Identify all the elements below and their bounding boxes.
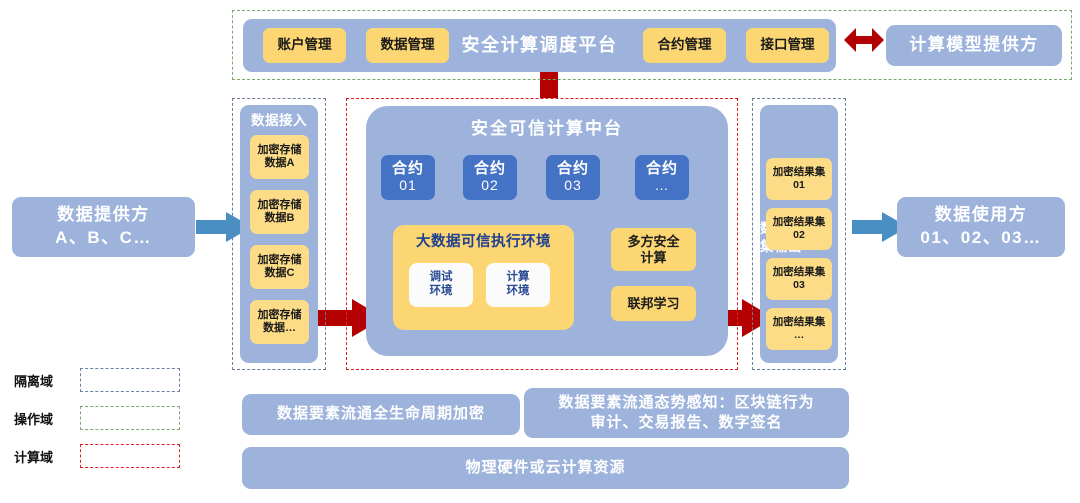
- egress-item-02[interactable]: 加密结果集 02: [766, 208, 832, 250]
- ingress-item-b-line1: 加密存储: [258, 199, 302, 212]
- egress-item-03[interactable]: 加密结果集 03: [766, 258, 832, 300]
- data-provider-box[interactable]: 数据提供方 A、B、C…: [12, 197, 195, 257]
- legend-swatch-compute: [80, 444, 180, 468]
- module-interface-management[interactable]: 接口管理: [746, 28, 829, 63]
- legend-swatch-operation: [80, 406, 180, 430]
- footer-awareness-line2: 审计、交易报告、数字签名: [590, 413, 782, 433]
- ingress-item-a-line1: 加密存储: [258, 144, 302, 157]
- ingress-item-c[interactable]: 加密存储 数据C: [250, 245, 309, 289]
- ingress-item-more-line2: 数据…: [263, 322, 296, 335]
- data-consumer-line2: 01、02、03…: [920, 227, 1041, 250]
- contract-02-number: 02: [481, 178, 499, 194]
- legend-swatch-isolation: [80, 368, 180, 392]
- engine-mpc-line1: 多方安全: [627, 234, 679, 250]
- egress-item-more-line1: 加密结果集: [773, 316, 826, 329]
- egress-item-01-line1: 加密结果集: [773, 166, 826, 179]
- egress-item-more-line2: …: [794, 329, 805, 342]
- data-consumer-box[interactable]: 数据使用方 01、02、03…: [897, 197, 1065, 257]
- footer-encryption-label: 数据要素流通全生命周期加密: [277, 404, 485, 424]
- legend-label-compute: 计算域: [14, 444, 84, 468]
- model-provider-label: 计算模型提供方: [909, 34, 1039, 57]
- contract-01-number: 01: [399, 178, 417, 194]
- env-debug-line1: 调试: [430, 271, 453, 285]
- legend-label-isolation: 隔离域: [14, 368, 84, 392]
- contract-02-label: 合约: [474, 161, 506, 178]
- scheduling-platform-title: 安全计算调度平台: [462, 34, 618, 57]
- egress-item-03-line1: 加密结果集: [773, 266, 826, 279]
- env-debug-line2: 环境: [430, 285, 453, 299]
- ingress-item-c-line1: 加密存储: [258, 254, 302, 267]
- legend-label-operation: 操作域: [14, 406, 84, 430]
- data-ingress-title: 数据接入: [251, 112, 307, 130]
- contract-03[interactable]: 合约 03: [546, 155, 600, 200]
- footer-infrastructure-bar: 物理硬件或云计算资源: [242, 447, 849, 489]
- egress-item-03-line2: 03: [793, 279, 805, 292]
- footer-awareness-line1: 数据要素流通态势感知：区块链行为: [558, 393, 814, 413]
- env-debug[interactable]: 调试 环境: [409, 263, 473, 307]
- contract-02[interactable]: 合约 02: [463, 155, 517, 200]
- footer-encryption-bar: 数据要素流通全生命周期加密: [242, 394, 520, 435]
- ingress-item-more[interactable]: 加密存储 数据…: [250, 300, 309, 344]
- engine-federated-learning[interactable]: 联邦学习: [611, 286, 696, 321]
- ingress-item-a[interactable]: 加密存储 数据A: [250, 135, 309, 179]
- data-provider-line2: A、B、C…: [55, 227, 152, 250]
- ingress-item-b-line2: 数据B: [265, 212, 295, 225]
- model-provider-box[interactable]: 计算模型提供方: [886, 25, 1062, 66]
- module-contract-management[interactable]: 合约管理: [643, 28, 726, 63]
- ingress-item-c-line2: 数据C: [265, 267, 295, 280]
- engine-mpc[interactable]: 多方安全 计算: [611, 228, 696, 271]
- egress-item-02-line1: 加密结果集: [773, 216, 826, 229]
- contract-more[interactable]: 合约 …: [635, 155, 689, 200]
- egress-item-more[interactable]: 加密结果集 …: [766, 308, 832, 350]
- contract-03-number: 03: [564, 178, 582, 194]
- footer-awareness-bar: 数据要素流通态势感知：区块链行为 审计、交易报告、数字签名: [524, 388, 849, 438]
- contract-01-label: 合约: [392, 161, 424, 178]
- egress-item-02-line2: 02: [793, 229, 805, 242]
- footer-infrastructure-label: 物理硬件或云计算资源: [465, 458, 625, 478]
- ingress-item-b[interactable]: 加密存储 数据B: [250, 190, 309, 234]
- egress-item-01-line2: 01: [793, 179, 805, 192]
- contract-more-label: 合约: [646, 161, 678, 178]
- ingress-item-a-line2: 数据A: [265, 157, 295, 170]
- engine-mpc-line2: 计算: [640, 250, 666, 266]
- module-data-management[interactable]: 数据管理: [366, 28, 449, 63]
- env-compute-line2: 环境: [507, 285, 530, 299]
- egress-item-01[interactable]: 加密结果集 01: [766, 158, 832, 200]
- contract-01[interactable]: 合约 01: [381, 155, 435, 200]
- data-consumer-line1: 数据使用方: [935, 204, 1028, 227]
- ingress-item-more-line1: 加密存储: [258, 309, 302, 322]
- data-provider-line1: 数据提供方: [57, 204, 150, 227]
- contract-03-label: 合约: [557, 161, 589, 178]
- module-account-management[interactable]: 账户管理: [263, 28, 346, 63]
- env-compute[interactable]: 计算 环境: [486, 263, 550, 307]
- architecture-diagram: 安全计算调度平台 账户管理 数据管理 合约管理 接口管理 计算模型提供方 数据提…: [0, 0, 1080, 503]
- contract-more-number: …: [655, 178, 670, 194]
- tee-title: 大数据可信执行环境: [416, 234, 551, 252]
- compute-center-title: 安全可信计算中台: [471, 118, 623, 139]
- env-compute-line1: 计算: [507, 271, 530, 285]
